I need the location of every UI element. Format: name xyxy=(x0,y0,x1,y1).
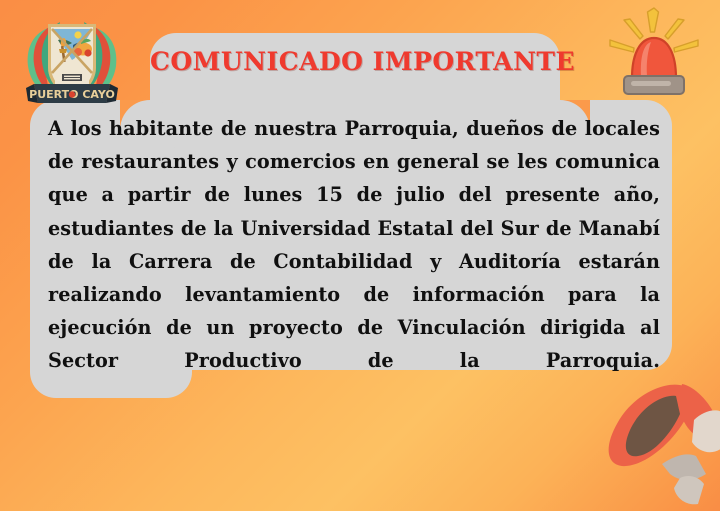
page-title: COMUNICADO IMPORTANTE xyxy=(150,47,560,76)
siren-icon xyxy=(600,6,708,98)
announcement-body: A los habitante de nuestra Parroquia, du… xyxy=(48,112,660,411)
coat-of-arms-icon: PUERTO CAYO xyxy=(18,8,126,112)
announcement-poster: PUERTO CAYO COMUNICADO IMPORTANTE A los … xyxy=(0,0,720,511)
